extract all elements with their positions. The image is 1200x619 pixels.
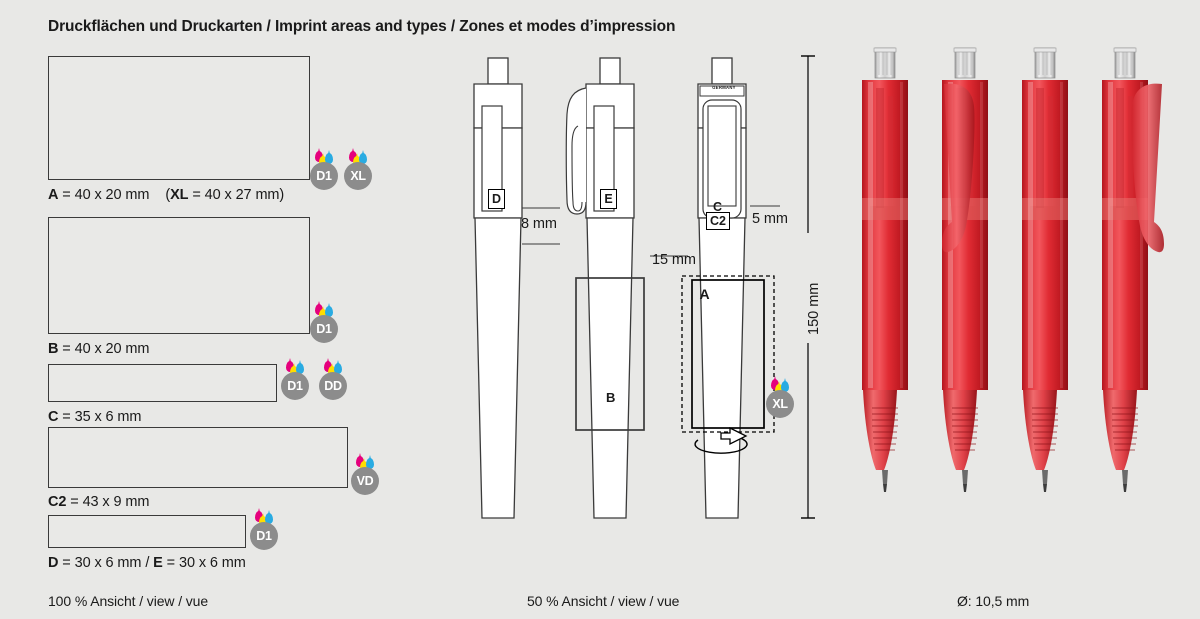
germany-label: GERMANY <box>712 85 736 90</box>
area-c-id: C <box>48 409 58 425</box>
area-c2-size: = 43 x 9 mm <box>66 494 149 510</box>
dimension-15mm: 15 mm <box>652 252 696 268</box>
imprint-area-label-c: C = 35 x 6 mm <box>48 409 141 425</box>
area-a-xl-id: XL <box>170 187 188 203</box>
print-method-badge-d1-b[interactable]: D1 <box>310 303 340 343</box>
print-method-badge-d1-a[interactable]: D1 <box>310 150 340 190</box>
dimension-8mm-value: 8 mm <box>521 216 557 232</box>
product-pen-3 <box>1022 48 1068 492</box>
dimension-5mm: 5 mm <box>752 211 788 227</box>
technical-drawings <box>460 48 830 548</box>
badge-code: D1 <box>281 372 309 400</box>
print-method-badge-xl-a[interactable]: XL <box>344 150 374 190</box>
area-d-id: D <box>48 555 58 571</box>
area-b-id: B <box>48 341 58 357</box>
imprint-area-box-c2 <box>48 427 348 488</box>
zone-tag-b: B <box>606 390 615 405</box>
page-title: Druckflächen und Druckarten / Imprint ar… <box>48 18 675 36</box>
product-pen-1 <box>862 48 908 492</box>
imprint-area-box-a <box>48 56 310 180</box>
badge-code: XL <box>344 162 372 190</box>
imprint-area-label-a: A = 40 x 20 mm(XL = 40 x 27 mm) <box>48 187 284 203</box>
imprint-area-label-c2: C2 = 43 x 9 mm <box>48 494 149 510</box>
imprint-area-label-b: B = 40 x 20 mm <box>48 341 149 357</box>
area-a-id: A <box>48 187 58 203</box>
caption-middle: 50 % Ansicht / view / vue <box>527 593 679 609</box>
caption-left: 100 % Ansicht / view / vue <box>48 593 208 609</box>
product-pen-2 <box>942 48 988 492</box>
zone-tag-c2-label: C2 <box>710 214 726 228</box>
zone-tag-d-label: D <box>492 192 501 206</box>
print-method-badge-d1-d[interactable]: D1 <box>250 510 280 550</box>
product-pen-4 <box>1102 48 1164 492</box>
badge-code: D1 <box>310 162 338 190</box>
imprint-area-box-b <box>48 217 310 334</box>
dimension-15mm-value: 15 mm <box>652 252 696 268</box>
print-method-badge-xl-a-drawing[interactable]: XL <box>766 378 796 418</box>
dimension-5mm-value: 5 mm <box>752 211 788 227</box>
badge-code: D1 <box>310 315 338 343</box>
dimension-150mm-value: 150 mm <box>806 283 822 335</box>
imprint-area-box-c <box>48 364 277 402</box>
imprint-area-box-d <box>48 515 246 548</box>
badge-code: XL <box>766 390 794 418</box>
area-b-size: = 40 x 20 mm <box>58 341 149 357</box>
print-method-badge-vd-c2[interactable]: VD <box>351 455 381 495</box>
product-photo-group <box>850 48 1190 548</box>
zone-tag-a-label: A <box>699 286 709 302</box>
badge-code: D1 <box>250 522 278 550</box>
dimension-150mm: 150 mm <box>806 283 822 335</box>
zone-tag-e: E <box>600 189 617 209</box>
imprint-area-label-d: D = 30 x 6 mm / E = 30 x 6 mm <box>48 555 246 571</box>
area-c-size: = 35 x 6 mm <box>58 409 141 425</box>
zone-tag-c2: C2 <box>706 212 730 230</box>
dimension-8mm: 8 mm <box>521 216 557 232</box>
print-method-badge-dd-c[interactable]: DD <box>319 360 349 400</box>
zone-tag-e-label: E <box>604 192 612 206</box>
zone-tag-d: D <box>488 189 505 209</box>
area-c2-id: C2 <box>48 494 66 510</box>
badge-code: VD <box>351 467 379 495</box>
area-a-xl-size: = 40 x 27 mm) <box>188 187 284 203</box>
barrel-imprint-germany: GERMANY <box>702 85 746 90</box>
zone-tag-a: A <box>695 283 714 304</box>
zone-tag-b-label: B <box>606 390 615 405</box>
print-method-badge-d1-c[interactable]: D1 <box>281 360 311 400</box>
area-a-size: = 40 x 20 mm <box>58 187 149 203</box>
badge-code: DD <box>319 372 347 400</box>
area-e-id: E <box>153 555 163 571</box>
caption-right: Ø: 10,5 mm <box>957 593 1029 609</box>
area-d-size: = 30 x 6 mm / <box>58 555 153 571</box>
area-e-size: = 30 x 6 mm <box>163 555 246 571</box>
